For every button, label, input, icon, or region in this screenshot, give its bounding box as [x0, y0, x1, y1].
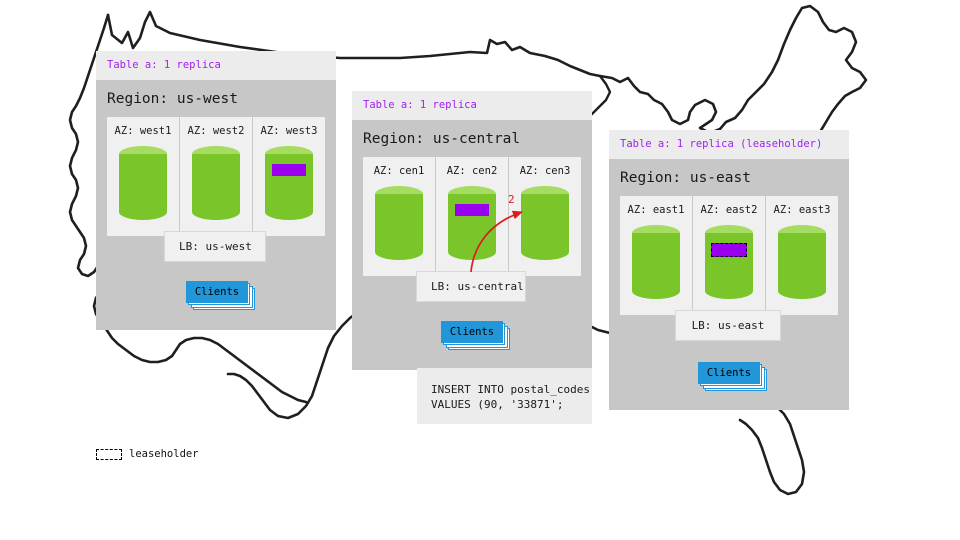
az-cell-west1[interactable]: AZ: west1	[107, 117, 180, 236]
az-row-us-central: AZ: cen1 AZ: cen2 AZ: cen3	[363, 157, 581, 276]
load-balancer-us-east[interactable]: LB: us-east	[675, 310, 781, 341]
node-cylinder-east1[interactable]	[632, 225, 680, 299]
node-cylinder-cen3[interactable]	[521, 186, 569, 260]
az-row-us-west: AZ: west1 AZ: west2 AZ: west3	[107, 117, 325, 236]
region-title-us-east: Region: us-east	[609, 159, 849, 196]
az-cell-cen3[interactable]: AZ: cen3	[509, 157, 581, 276]
az-cell-east3[interactable]: AZ: east3	[766, 196, 838, 315]
az-label-cen2: AZ: cen2	[447, 165, 498, 177]
cylinder-body	[521, 194, 569, 252]
arrow-label-2: 2	[508, 193, 515, 206]
node-cylinder-cen1[interactable]	[375, 186, 423, 260]
sql-statement-box: INSERT INTO postal_codes VALUES (90, '33…	[417, 368, 592, 424]
az-cell-east1[interactable]: AZ: east1	[620, 196, 693, 315]
node-cylinder-west3[interactable]	[265, 146, 313, 220]
node-cylinder-east2[interactable]	[705, 225, 753, 299]
clients-button-label: Clients	[186, 281, 248, 303]
node-cylinder-cen2[interactable]	[448, 186, 496, 260]
az-label-west2: AZ: west2	[188, 125, 245, 137]
node-cylinder-west1[interactable]	[119, 146, 167, 220]
replica-block-cen2	[455, 204, 489, 216]
az-label-east2: AZ: east2	[701, 204, 758, 216]
region-title-us-central: Region: us-central	[352, 120, 592, 157]
load-balancer-us-central[interactable]: LB: us-central	[416, 271, 526, 302]
az-label-west1: AZ: west1	[115, 125, 172, 137]
az-label-cen3: AZ: cen3	[520, 165, 571, 177]
cylinder-body	[705, 233, 753, 291]
node-cylinder-west2[interactable]	[192, 146, 240, 220]
region-banner-us-central: Table a: 1 replica	[352, 91, 592, 120]
cylinder-body	[265, 154, 313, 212]
clients-button-us-east[interactable]: Clients	[698, 362, 764, 386]
leaseholder-replica-block-east2	[711, 243, 747, 257]
cylinder-body	[375, 194, 423, 252]
clients-button-us-west[interactable]: Clients	[186, 281, 252, 305]
cylinder-body	[448, 194, 496, 252]
az-row-us-east: AZ: east1 AZ: east2 AZ: east3	[620, 196, 838, 315]
clients-button-label: Clients	[441, 321, 503, 343]
az-label-east1: AZ: east1	[628, 204, 685, 216]
az-cell-west2[interactable]: AZ: west2	[180, 117, 253, 236]
az-label-cen1: AZ: cen1	[374, 165, 425, 177]
cylinder-body	[119, 154, 167, 212]
legend-leaseholder: leaseholder	[96, 448, 199, 460]
replica-block-west3	[272, 164, 306, 176]
cylinder-body	[778, 233, 826, 291]
load-balancer-us-west[interactable]: LB: us-west	[164, 231, 266, 262]
clients-button-us-central[interactable]: Clients	[441, 321, 507, 345]
az-cell-east2[interactable]: AZ: east2	[693, 196, 766, 315]
az-label-east3: AZ: east3	[774, 204, 831, 216]
az-cell-cen2[interactable]: AZ: cen2	[436, 157, 509, 276]
dashed-rectangle-icon	[96, 449, 122, 460]
az-cell-cen1[interactable]: AZ: cen1	[363, 157, 436, 276]
us-map-florida	[740, 406, 804, 494]
diagram-canvas: Table a: 1 replica Region: us-west AZ: w…	[0, 0, 960, 540]
region-banner-us-east: Table a: 1 replica (leaseholder)	[609, 130, 849, 159]
region-title-us-west: Region: us-west	[96, 80, 336, 117]
legend-label: leaseholder	[129, 448, 199, 460]
cylinder-body	[192, 154, 240, 212]
az-cell-west3[interactable]: AZ: west3	[253, 117, 325, 236]
cylinder-body	[632, 233, 680, 291]
clients-button-label: Clients	[698, 362, 760, 384]
az-label-west3: AZ: west3	[261, 125, 318, 137]
node-cylinder-east3[interactable]	[778, 225, 826, 299]
region-banner-us-west: Table a: 1 replica	[96, 51, 336, 80]
